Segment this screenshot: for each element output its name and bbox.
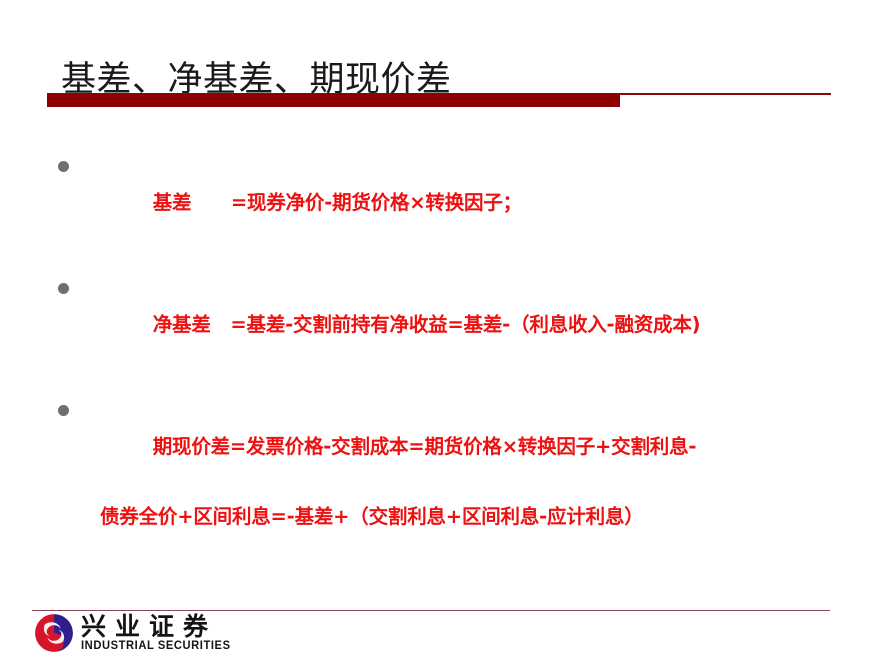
bullet-text-basis: 基差 =现券净价-期货价格×转换因子； [100,150,858,255]
list-item: 净基差 =基差-交割前持有净收益=基差-（利息收入-融资成本) [58,272,858,377]
title-accent-bar [47,94,620,107]
disc-bullet-icon [58,405,69,416]
industrial-securities-swirl-logo-icon [33,612,75,654]
bullet-text-spot-futures-spread: 期现价差=发票价格-交割成本=期货价格×转换因子+交割利息- 债券全价+区间利息… [100,394,858,604]
company-name-en: INDUSTRIAL SECURITIES [81,640,231,653]
footer-logo-wordmark: 兴业证券 INDUSTRIAL SECURITIES [81,613,235,653]
presentation-slide: 基差、净基差、期现价差 基差 =现券净价-期货价格×转换因子； 净基差 =基差-… [0,0,878,658]
disc-bullet-icon [58,161,69,172]
footer-logo: 兴业证券 INDUSTRIAL SECURITIES [33,612,235,654]
bullet-line-1: 基差 =现券净价-期货价格×转换因子； [153,191,522,214]
bullet-line-2: 债券全价+区间利息=-基差+（交割利息+区间利息-应计利息） [100,499,858,534]
list-item: 基差 =现券净价-期货价格×转换因子； [58,150,858,255]
bullet-line-1: 期现价差=发票价格-交割成本=期货价格×转换因子+交割利息- [153,435,697,458]
bullet-text-net-basis: 净基差 =基差-交割前持有净收益=基差-（利息收入-融资成本) [100,272,858,377]
footer-divider [32,610,830,611]
list-item: 期现价差=发票价格-交割成本=期货价格×转换因子+交割利息- 债券全价+区间利息… [58,394,858,604]
bullet-list: 基差 =现券净价-期货价格×转换因子； 净基差 =基差-交割前持有净收益=基差-… [58,150,858,621]
bullet-line-1: 净基差 =基差-交割前持有净收益=基差-（利息收入-融资成本) [153,313,701,336]
disc-bullet-icon [58,283,69,294]
company-name-cn: 兴业证券 [81,613,235,640]
